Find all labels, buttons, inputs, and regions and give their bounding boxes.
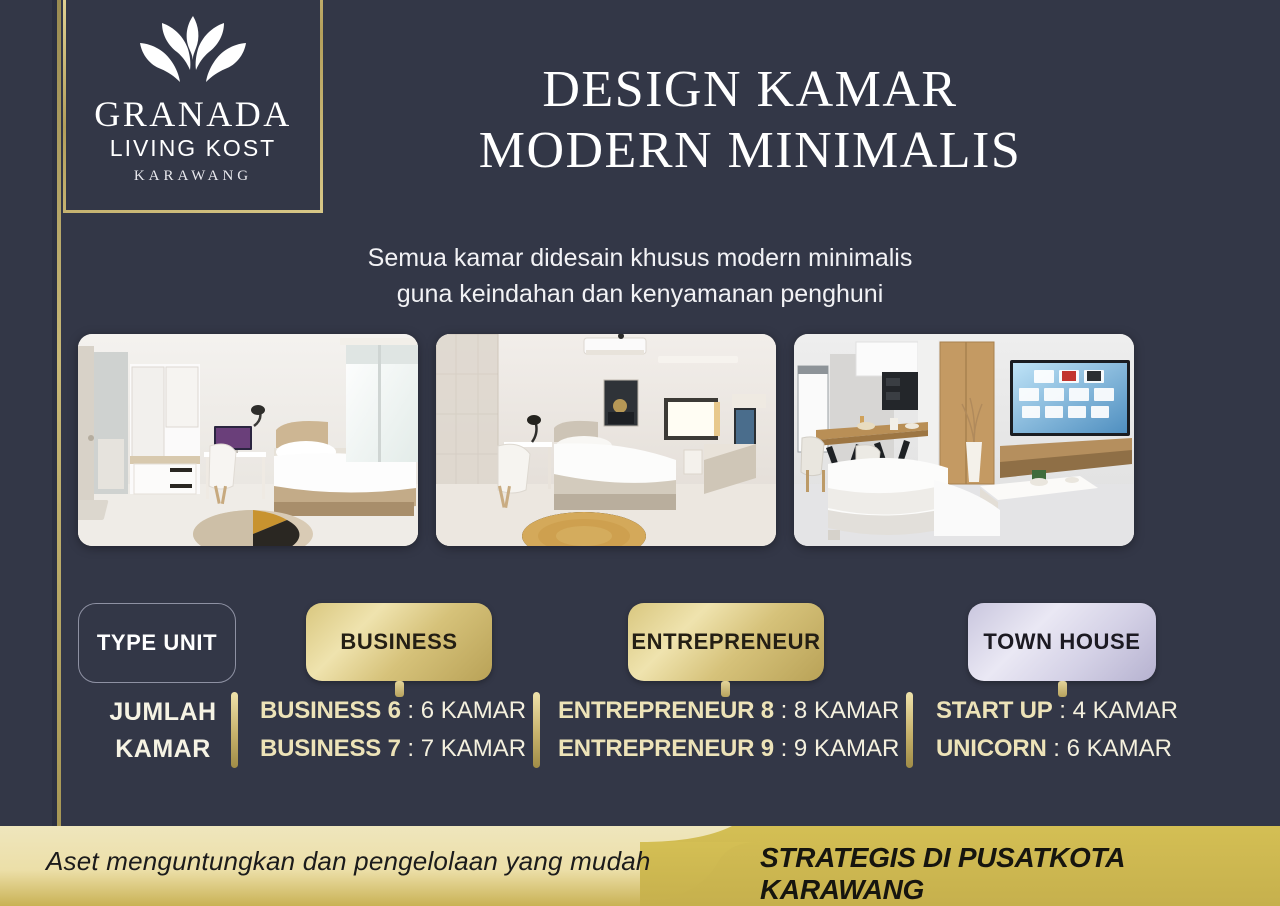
badge-business[interactable]: BUSINESS [306,603,492,681]
column-divider-3 [906,692,913,768]
row-value: : 8 KAMAR [781,697,900,724]
bedroom-with-desk-photo [78,334,418,546]
row-value: : 4 KAMAR [1059,697,1178,724]
brand-name: GRANADA [63,96,323,132]
row-value: : 6 KAMAR [1053,735,1172,762]
row-key: BUSINESS 6 [260,697,401,724]
living-room-kitchen-photo [794,334,1134,546]
footer-left-text: Aset menguntungkan dan pengelolaan yang … [46,846,651,877]
badge-entrepreneur[interactable]: ENTREPRENEUR [628,603,824,681]
badge-town-house[interactable]: TOWN HOUSE [968,603,1156,681]
subtitle: Semua kamar didesain khusus modern minim… [190,240,1090,313]
brand-tagline: LIVING KOST [63,137,323,160]
list-item: START UP : 4 KAMAR [936,692,1178,730]
photo-gallery [78,334,1202,546]
list-item: UNICORN : 6 KAMAR [936,730,1178,768]
brand-city: KARAWANG [63,169,323,184]
headline-line-1: DESIGN KAMAR [400,60,1100,121]
subtitle-line-2: guna keindahan dan kenyamanan penghuni [190,276,1090,312]
row-value: : 9 KAMAR [781,735,900,762]
entrepreneur-room-list: ENTREPRENEUR 8 : 8 KAMAR ENTREPRENEUR 9 … [558,692,899,768]
jumlah-kamar-line-2: KAMAR [88,731,238,768]
row-key: START UP [936,697,1053,724]
town-house-room-list: START UP : 4 KAMAR UNICORN : 6 KAMAR [936,692,1178,768]
footer-right-text: STRATEGIS DI PUSATKOTA KARAWANG [760,842,1280,906]
row-key: BUSINESS 7 [260,735,401,762]
subtitle-line-1: Semua kamar didesain khusus modern minim… [190,240,1090,276]
list-item: ENTREPRENEUR 8 : 8 KAMAR [558,692,899,730]
type-unit-label-badge: TYPE UNIT [78,603,236,683]
left-gold-rule [57,0,61,906]
row-key: ENTREPRENEUR 8 [558,697,774,724]
promo-poster: GRANADA LIVING KOST KARAWANG DESIGN KAMA… [0,0,1280,906]
bedroom-with-artwork-photo [436,334,776,546]
lotus-leaf-icon [138,14,248,90]
room-count-table: JUMLAH KAMAR BUSINESS 6 : 6 KAMAR BUSINE… [78,692,1202,770]
column-divider-1 [231,692,238,768]
business-room-list: BUSINESS 6 : 6 KAMAR BUSINESS 7 : 7 KAMA… [260,692,526,768]
row-key: ENTREPRENEUR 9 [558,735,774,762]
footer-banners: Aset menguntungkan dan pengelolaan yang … [0,826,1280,906]
jumlah-kamar-label: JUMLAH KAMAR [88,694,238,768]
unit-type-badges: TYPE UNIT BUSINESS ENTREPRENEUR TOWN HOU… [78,603,1202,681]
column-divider-2 [533,692,540,768]
brand-logo: GRANADA LIVING KOST KARAWANG [63,14,323,184]
list-item: BUSINESS 6 : 6 KAMAR [260,692,526,730]
list-item: BUSINESS 7 : 7 KAMAR [260,730,526,768]
headline-line-2: MODERN MINIMALIS [400,121,1100,182]
row-value: : 6 KAMAR [407,697,526,724]
list-item: ENTREPRENEUR 9 : 9 KAMAR [558,730,899,768]
page-title: DESIGN KAMAR MODERN MINIMALIS [400,60,1100,182]
row-value: : 7 KAMAR [407,735,526,762]
row-key: UNICORN [936,735,1047,762]
jumlah-kamar-line-1: JUMLAH [88,694,238,731]
